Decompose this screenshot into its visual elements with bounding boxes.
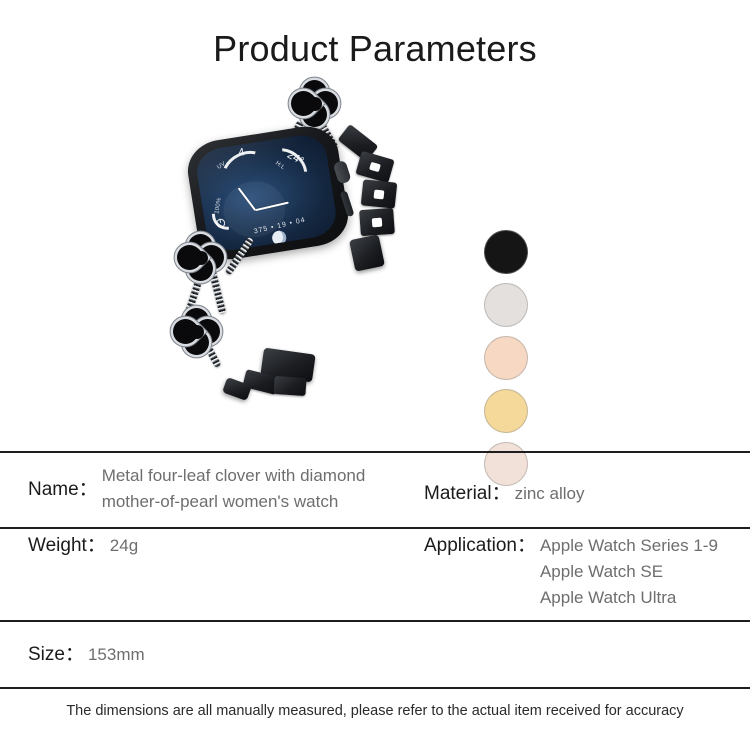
hero-section: 4 UV 24° H:L 100% 375 • 19 • 04: [0, 85, 750, 440]
band-link: [361, 179, 398, 208]
product-image: 4 UV 24° H:L 100% 375 • 19 • 04: [170, 85, 460, 435]
spec-value-weight: 24g: [110, 533, 138, 559]
moon-phase-icon: [271, 230, 287, 246]
clover-charm-bottom: [174, 309, 220, 355]
spec-cell-weight: Weight： 24g: [28, 533, 138, 559]
band-clasp-right: [349, 234, 385, 272]
table-rule-bottom: [0, 687, 750, 689]
band-link: [355, 151, 394, 183]
spec-value-application-line1: Apple Watch Series 1-9: [540, 533, 718, 559]
page-title: Product Parameters: [0, 28, 750, 70]
spec-label-application: Application：: [424, 533, 536, 559]
band-link: [273, 376, 306, 396]
table-rule-top: [0, 451, 750, 453]
spec-value-size: 153mm: [88, 642, 145, 668]
clover-charm-top: [292, 81, 338, 127]
color-swatch-list: [484, 230, 530, 495]
color-swatch-gold[interactable]: [484, 389, 528, 433]
spec-value-name-line2: mother-of-pearl women's watch: [102, 489, 366, 515]
side-button: [340, 190, 355, 217]
clover-center: [194, 251, 208, 265]
product-parameters-page: Product Parameters: [0, 0, 750, 750]
color-swatch-black[interactable]: [484, 230, 528, 274]
clover-center: [190, 325, 204, 339]
spec-value-application-line3: Apple Watch Ultra: [540, 585, 718, 611]
band-link: [359, 208, 395, 236]
spec-value-material: zinc alloy: [515, 481, 585, 507]
spec-label-size: Size：: [28, 642, 84, 668]
color-swatch-silver[interactable]: [484, 283, 528, 327]
color-swatch-pink[interactable]: [484, 442, 528, 486]
spec-cell-size: Size： 153mm: [28, 642, 145, 668]
spec-value-name-line1: Metal four-leaf clover with diamond: [102, 463, 366, 489]
table-rule-2: [0, 527, 750, 529]
spec-label-weight: Weight：: [28, 533, 106, 559]
digital-crown: [333, 160, 352, 185]
band-link-hole: [374, 189, 385, 199]
band-link-hole: [372, 218, 383, 228]
band-link-hole: [369, 162, 381, 172]
table-rule-3: [0, 620, 750, 622]
clover-center: [308, 97, 322, 111]
spec-cell-material: Material： zinc alloy: [424, 481, 585, 507]
spec-label-name: Name：: [28, 477, 98, 503]
spec-value-application-line2: Apple Watch SE: [540, 559, 718, 585]
color-swatch-rose[interactable]: [484, 336, 528, 380]
measurement-disclaimer: The dimensions are all manually measured…: [0, 703, 750, 719]
spec-cell-application: Application： Apple Watch Series 1-9 Appl…: [424, 533, 718, 611]
clover-charm-middle: [178, 235, 224, 281]
spec-value-name: Metal four-leaf clover with diamond moth…: [102, 463, 366, 515]
spec-cell-name: Name： Metal four-leaf clover with diamon…: [28, 477, 365, 515]
spec-label-material: Material：: [424, 481, 511, 507]
spec-value-application: Apple Watch Series 1-9 Apple Watch SE Ap…: [540, 533, 718, 611]
